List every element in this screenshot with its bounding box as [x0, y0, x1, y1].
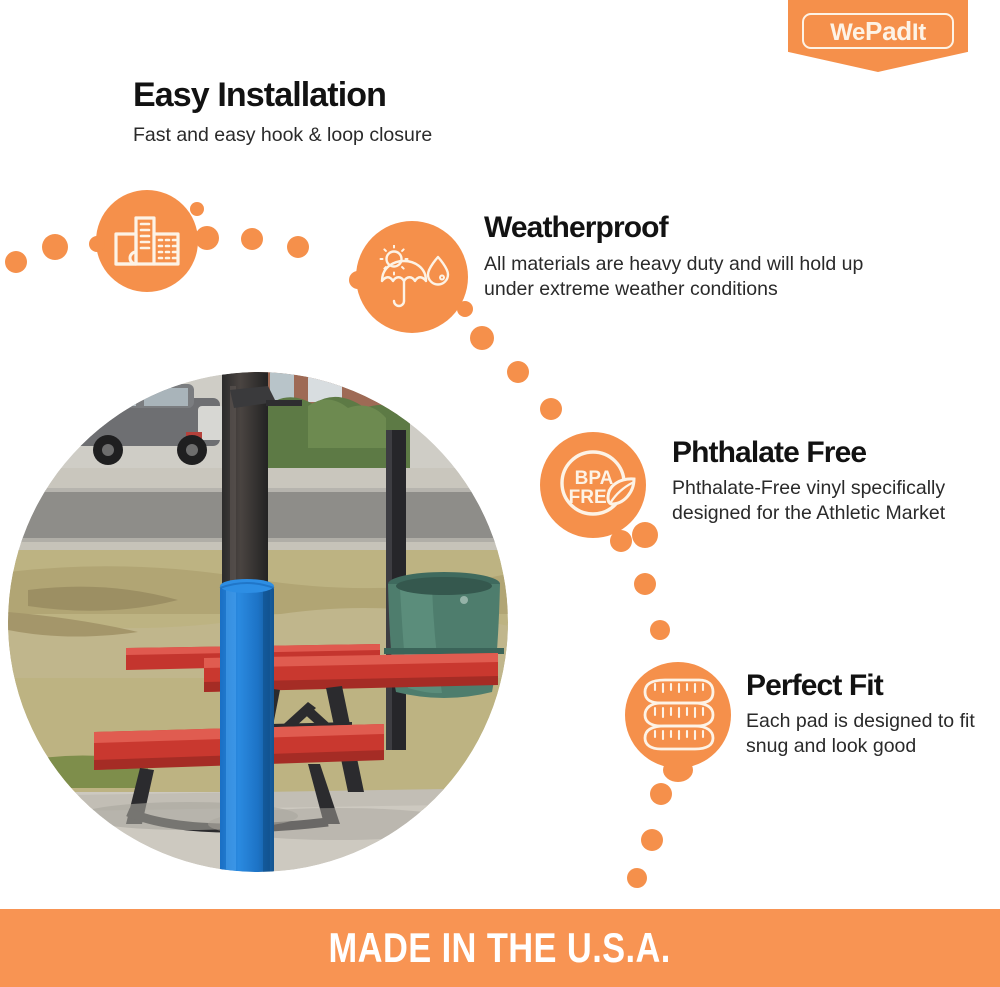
path-dot [470, 326, 494, 350]
product-photo-illustration [8, 372, 508, 872]
bpa-free-leaf-icon-glyph: BPA FREE [550, 442, 636, 528]
path-dot [540, 398, 562, 420]
feature-description-weatherproof: All materials are heavy duty and will ho… [484, 252, 914, 304]
path-dot [195, 226, 219, 250]
path-dot [650, 783, 672, 805]
feature-description-perfect-fit: Each pad is designed to fit snug and loo… [746, 709, 986, 761]
path-dot [627, 868, 647, 888]
measuring-tape-icon [625, 662, 731, 768]
bpa-icon-text-line-1: BPA [575, 468, 614, 489]
feature-title-easy-installation: Easy Installation [133, 78, 432, 114]
feature-title-phthalate-free: Phthalate Free [672, 437, 972, 469]
feature-description-phthalate-free: Phthalate-Free vinyl specifically design… [672, 476, 972, 528]
path-dot [507, 361, 529, 383]
feature-description-easy-installation: Fast and easy hook & loop closure [133, 123, 432, 149]
path-dot [241, 228, 263, 250]
measuring-tape-icon-glyph [637, 674, 719, 756]
feature-title-perfect-fit: Perfect Fit [746, 670, 986, 702]
sun-umbrella-raindrop-icon-glyph [374, 245, 450, 309]
feature-text-easy-installation: Easy Installation Fast and easy hook & l… [133, 78, 432, 149]
feature-text-phthalate-free: Phthalate Free Phthalate-Free vinyl spec… [672, 437, 972, 527]
made-in-usa-text: MADE IN THE U.S.A. [329, 924, 671, 972]
sun-umbrella-raindrop-icon [356, 221, 468, 333]
feature-text-weatherproof: Weatherproof All materials are heavy dut… [484, 212, 914, 303]
logo-text-pad: Pad [865, 16, 912, 46]
logo-outline-box: WePadIt [802, 13, 954, 49]
logo-text-it: It [912, 19, 926, 46]
logo-text-we: We [830, 19, 865, 46]
path-dot [634, 573, 656, 595]
path-dot [287, 236, 309, 258]
building-installation-icon [96, 190, 198, 292]
product-photo-blue-pole-pad [8, 372, 508, 872]
feature-title-weatherproof: Weatherproof [484, 212, 914, 244]
logo-wordmark: WePadIt [830, 18, 926, 45]
bpa-free-leaf-icon: BPA FREE [540, 432, 646, 538]
feature-text-perfect-fit: Perfect Fit Each pad is designed to fit … [746, 670, 986, 760]
path-dot [641, 829, 663, 851]
path-dot [5, 251, 27, 273]
building-installation-icon-glyph [114, 212, 180, 270]
infographic-page: WePadIt Easy Installation Fast and easy … [0, 0, 1000, 987]
path-dot [650, 620, 670, 640]
brand-logo[interactable]: WePadIt [788, 0, 968, 72]
path-dot [42, 234, 68, 260]
made-in-usa-banner: MADE IN THE U.S.A. [0, 909, 1000, 987]
